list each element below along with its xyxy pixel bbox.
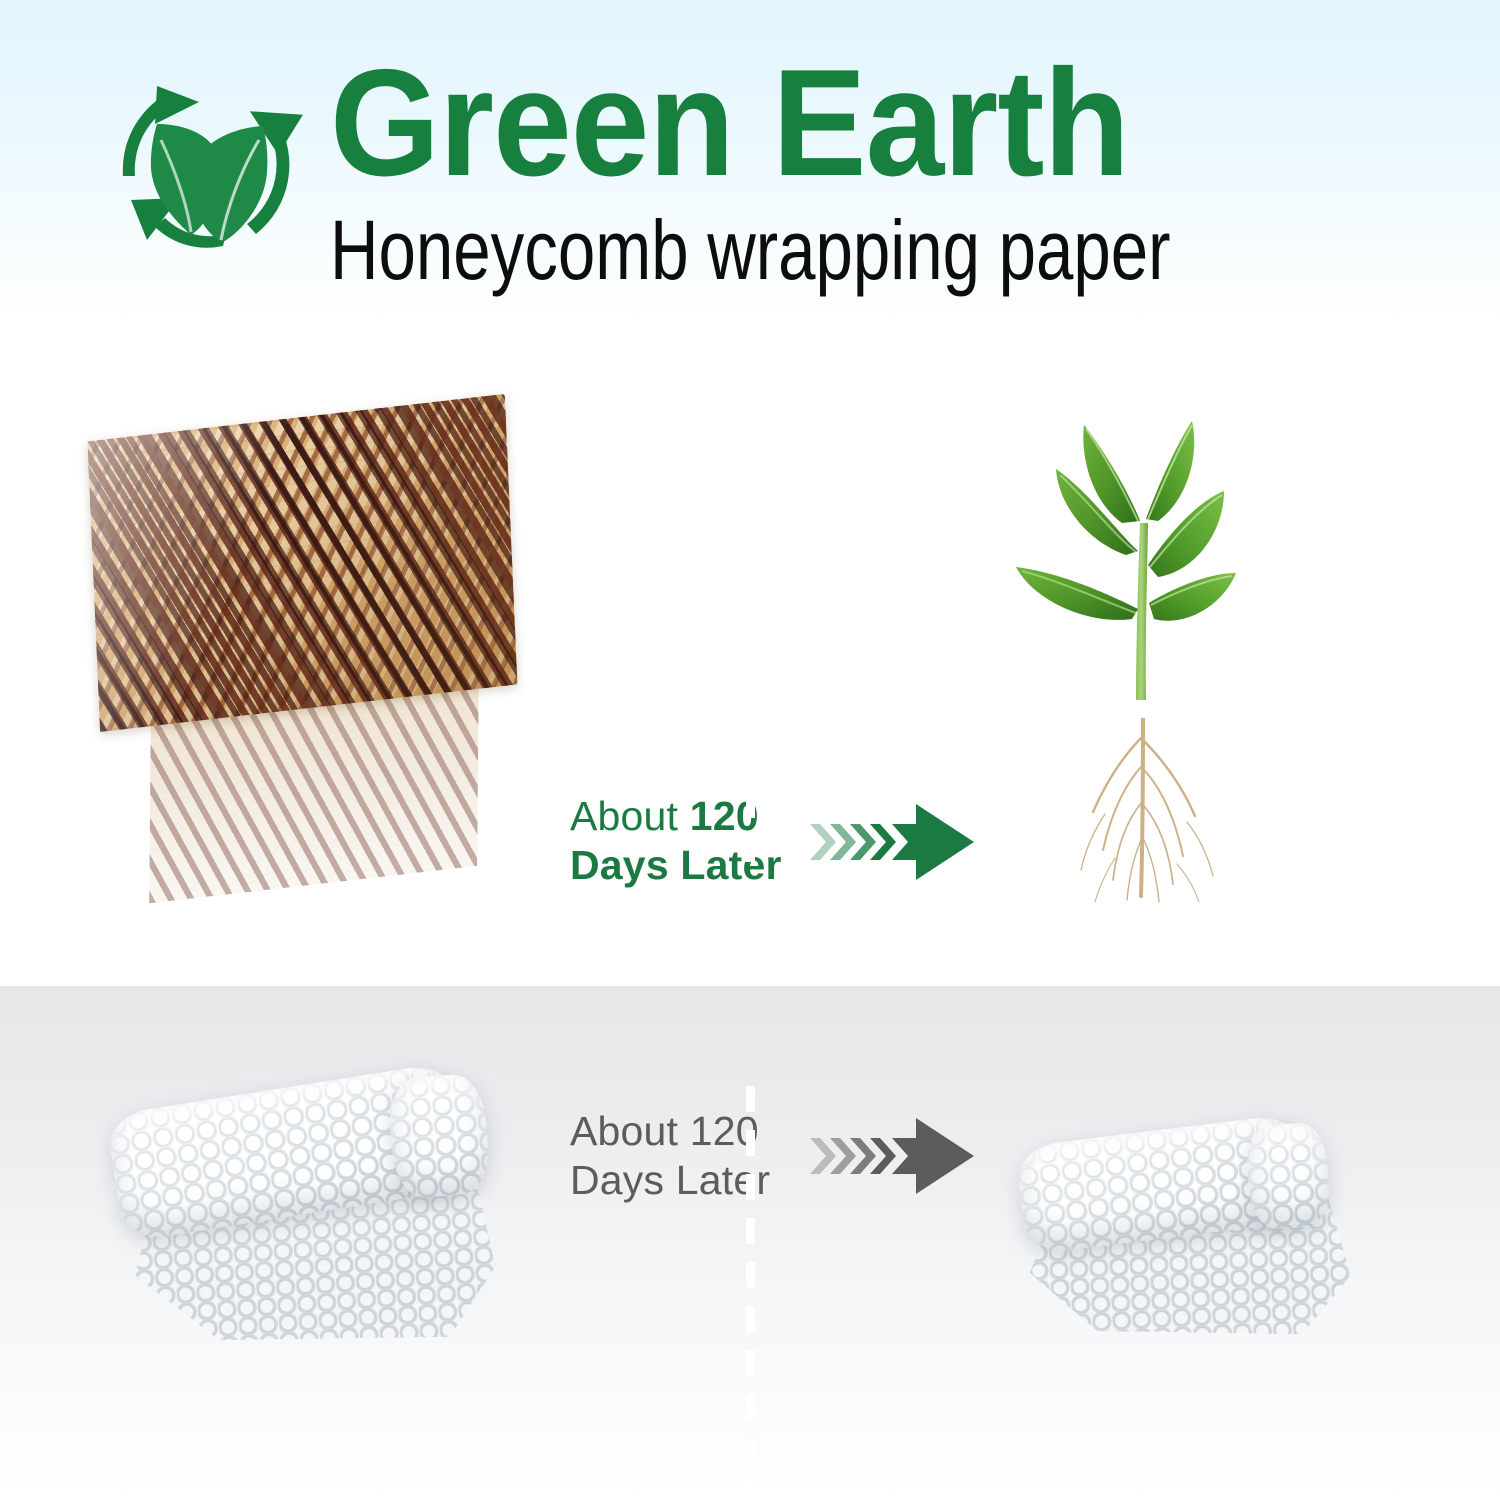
step-prefix-top: About [570,793,690,839]
chevron-arrow-right-gray-icon [808,1116,978,1196]
header-banner: Green Earth Honeycomb wrapping paper [0,0,1500,330]
plant-roots [1055,718,1235,908]
bubble-wrap-roll-left [95,1066,545,1356]
honeycomb-paper-sheet [95,418,545,758]
honeycomb-sheen [87,394,517,732]
step-label-bottom-line1: About 120 [570,1107,770,1156]
panel-separator-gap [0,972,1500,986]
honeycomb-paper-surface [87,394,517,732]
bubble-wrap-end-left [386,1072,492,1200]
step-prefix-bottom: About [570,1108,690,1154]
recycle-leaf-logo-icon [95,58,325,263]
bubble-wrap-roll-right [1000,1114,1380,1364]
plastic-bubble-wrap-panel: About 120 Days Later [0,986,1500,1500]
bubble-wrap-end-right [1244,1121,1331,1230]
brand-title: Green Earth [330,48,1260,198]
panel-divider-dashed-bottom [746,1086,755,1500]
panel-divider-dashed-top [746,660,755,972]
honeycomb-paper-panel: About 120 Days Later [0,330,1500,972]
step-label-bottom-line2: Days Later [570,1156,770,1205]
seedling-plant-icon [1010,395,1270,725]
step-label-bottom: About 120 Days Later [570,1107,770,1205]
product-infographic: Green Earth Honeycomb wrapping paper [0,0,1500,1500]
brand-subtitle: Honeycomb wrapping paper [330,200,1210,300]
chevron-arrow-right-green-icon [808,802,978,882]
